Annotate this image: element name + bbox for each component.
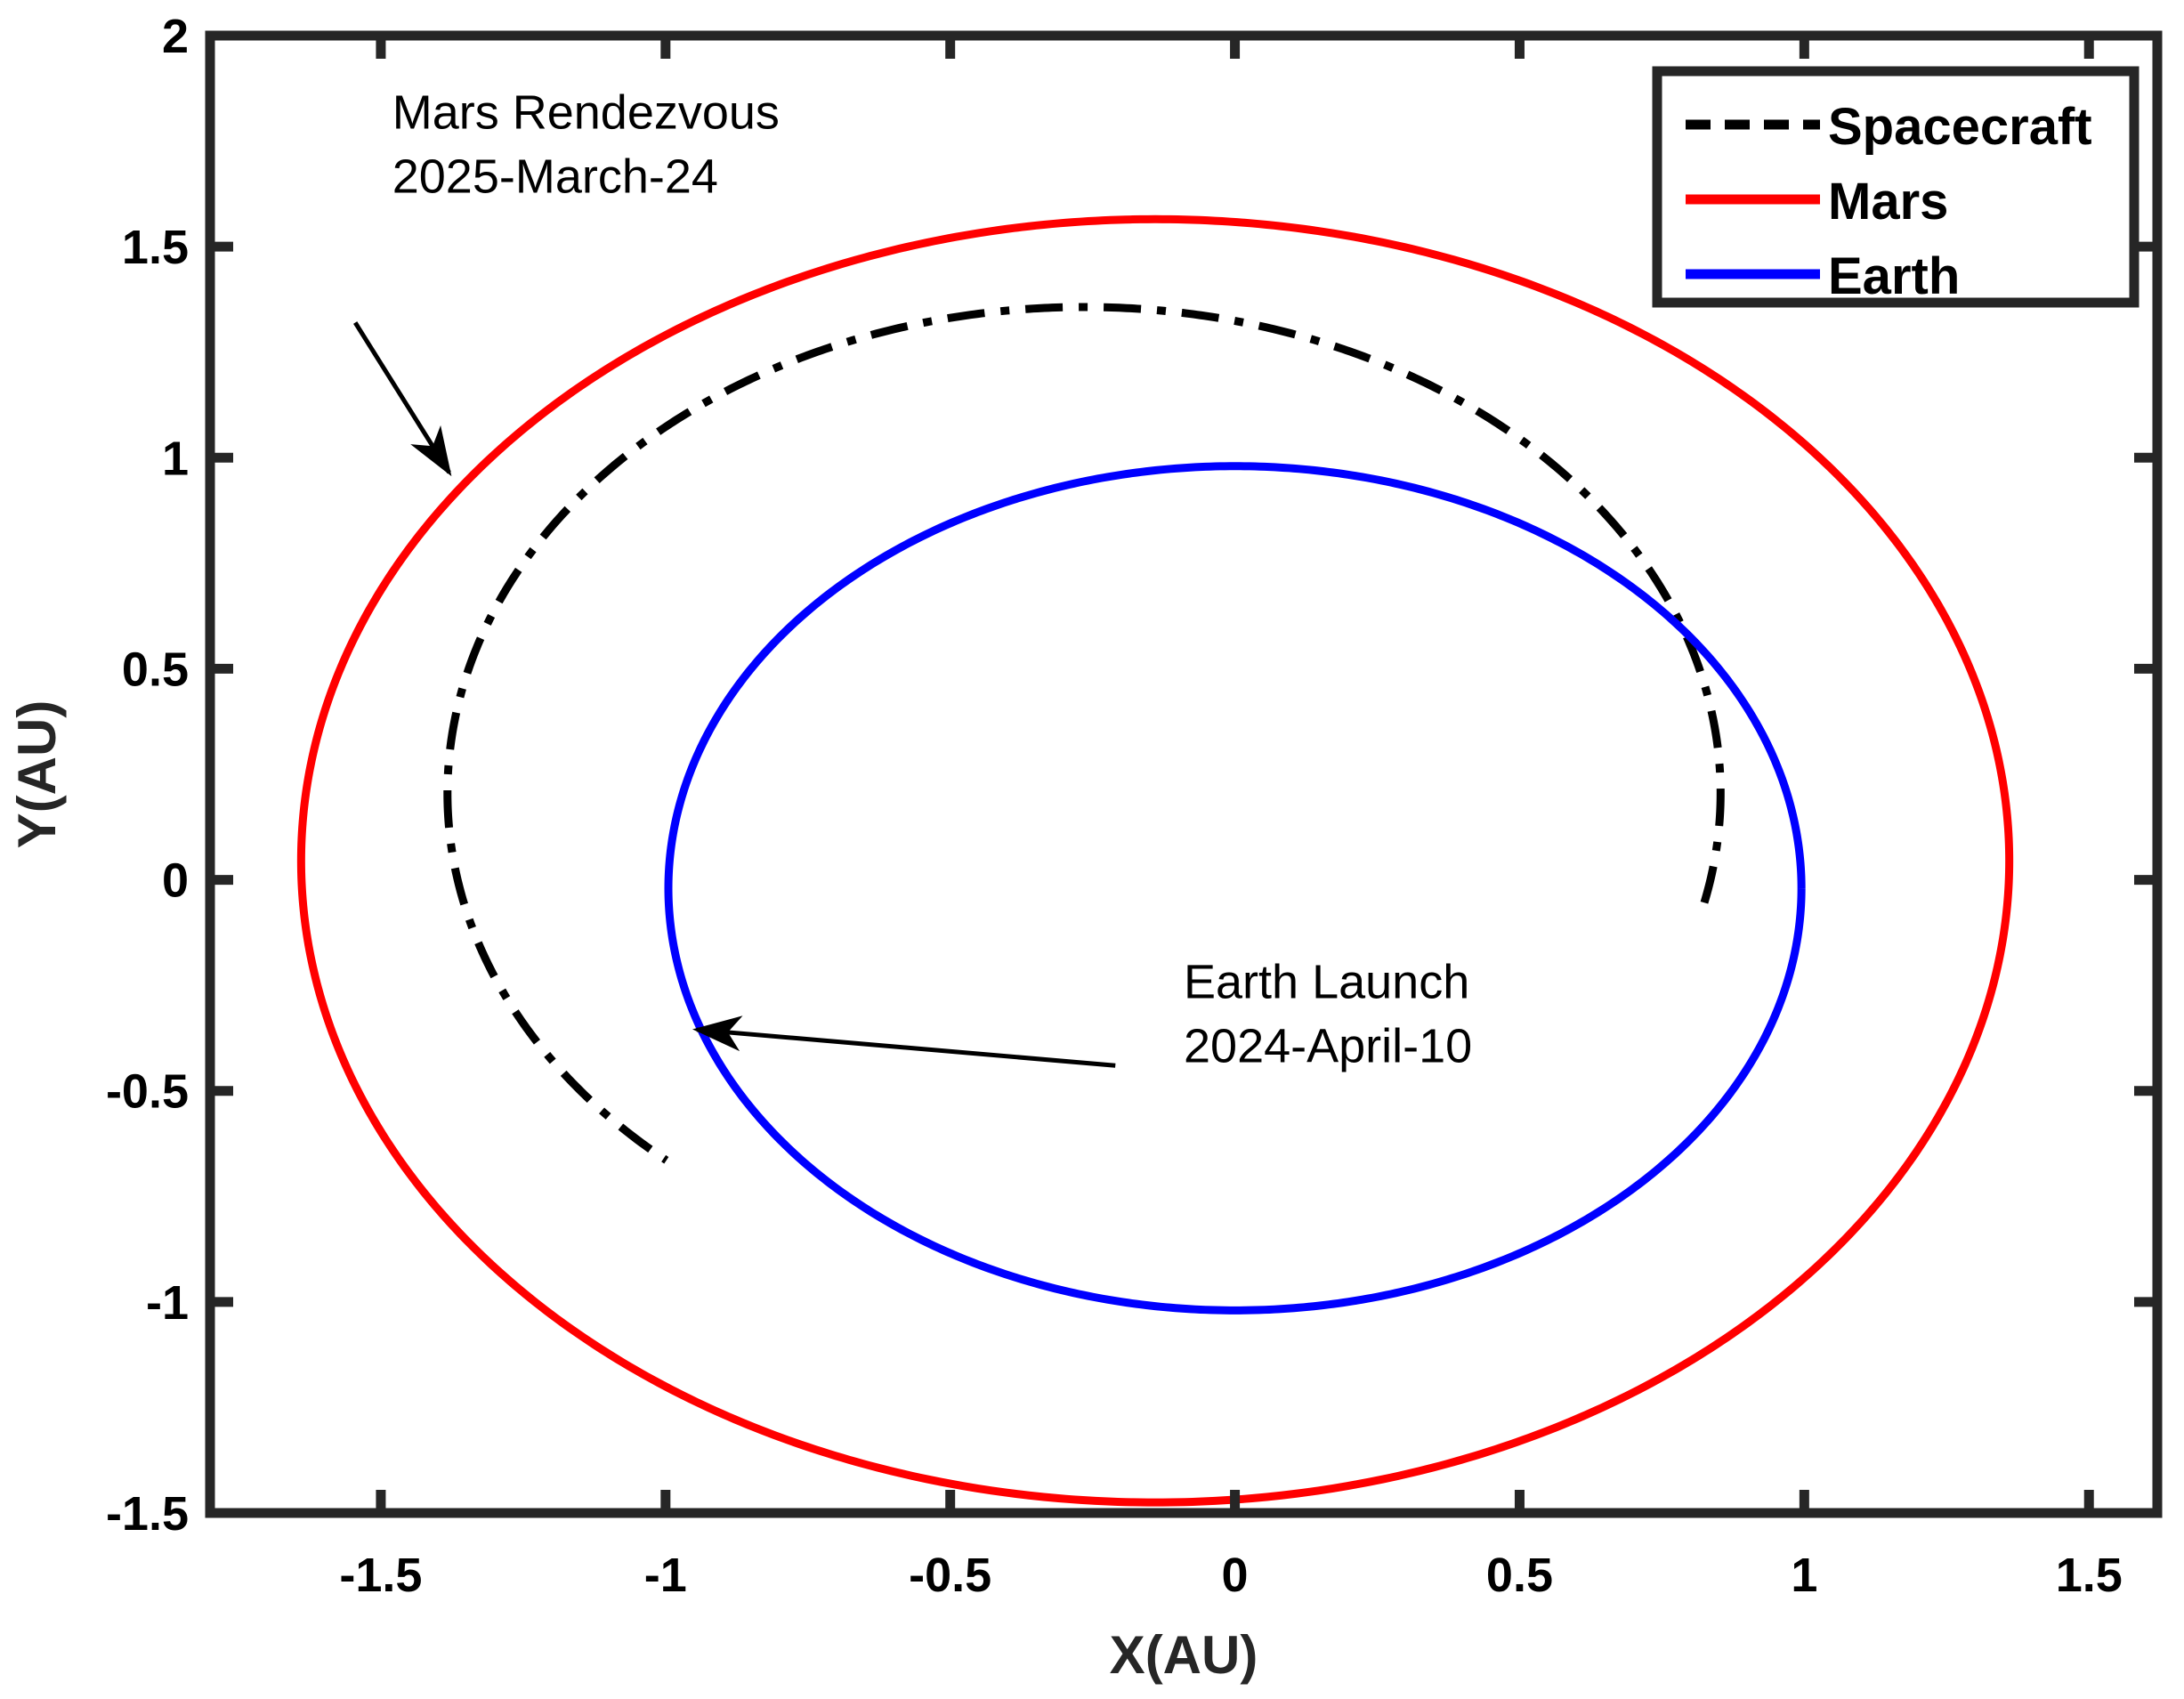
annotation-label-mars-rendezvous: Mars Rendezvous2025-March-24 [392,85,780,203]
series-spacecraft-line [448,307,1721,1161]
annotation-line: Earth Launch [1184,955,1469,1008]
y-tick-label: -1.5 [106,1487,189,1541]
y-tick-label: 2 [162,10,189,63]
legend-label-spacecraft[interactable]: Spacecraft [1828,98,2092,156]
x-tick-label: 0 [1222,1549,1249,1602]
legend-label-earth[interactable]: Earth [1828,247,1960,305]
chart-canvas: -1.5-1-0.500.511.521.510.50-0.5-1-1.5 Ma… [0,0,2184,1699]
annotation-line: Mars Rendezvous [392,85,780,139]
y-tick-label: 0 [162,854,189,908]
y-tick-label: 1.5 [122,221,189,274]
x-tick-label: 0.5 [1486,1549,1553,1602]
y-tick-label: -1 [146,1276,189,1330]
annotations-layer: Mars Rendezvous2025-March-24Earth Launch… [355,85,1472,1072]
annotation-line: 2025-March-24 [392,150,718,203]
y-axis-title: Y(AU) [7,700,67,849]
annotation-label-earth-launch: Earth Launch2024-April-10 [1184,955,1472,1072]
annotation-arrow-mars-rendezvous [355,323,449,473]
legend-label-mars[interactable]: Mars [1828,173,1948,231]
x-tick-label: -1.5 [339,1549,422,1602]
x-tick-label: 1.5 [2056,1549,2123,1602]
orbital-trajectory-figure: -1.5-1-0.500.511.521.510.50-0.5-1-1.5 Ma… [0,0,2184,1699]
y-tick-label: -0.5 [106,1065,189,1119]
x-tick-label: 1 [1791,1549,1817,1602]
x-axis-title: X(AU) [1110,1625,1258,1685]
series-earth-line [668,466,1801,1311]
x-tick-label: -0.5 [909,1549,991,1602]
annotation-line: 2024-April-10 [1184,1019,1472,1072]
chart-legend: SpacecraftMarsEarth [1657,71,2134,305]
y-tick-label: 1 [162,432,189,485]
annotation-arrow-earth-launch [697,1030,1115,1065]
y-tick-label: 0.5 [122,643,189,696]
data-series-layer [301,219,2009,1502]
x-tick-label: -1 [644,1549,687,1602]
